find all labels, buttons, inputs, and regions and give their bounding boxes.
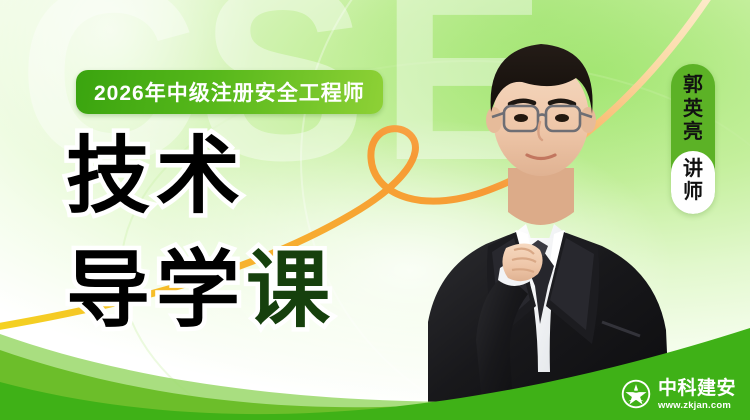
zkjan-star-logo-icon <box>621 379 651 409</box>
instructor-badge: 郭 英 亮 讲 师 <box>671 64 715 214</box>
brand-name: 中科建安 <box>658 379 736 398</box>
instructor-name: 郭 英 亮 <box>683 74 703 151</box>
instructor-role: 讲 师 <box>671 151 715 214</box>
instructor-name-char-3: 亮 <box>683 121 703 145</box>
page-title-line-1: 技术 <box>66 134 246 218</box>
course-title-pill: 2026年中级注册安全工程师 <box>76 70 383 114</box>
brand-logo: 中科建安 www.zkjan.com <box>621 379 736 411</box>
brand-text: 中科建安 www.zkjan.com <box>658 379 736 411</box>
brand-url: www.zkjan.com <box>658 401 736 411</box>
instructor-name-char-2: 英 <box>683 98 703 122</box>
instructor-role-char-2: 师 <box>683 181 703 205</box>
instructor-role-char-1: 讲 <box>683 158 703 182</box>
course-title-label: 2026年中级注册安全工程师 <box>94 77 365 107</box>
course-banner: C S E 2026年中级注册安全工程师 技术 导学课 <box>0 0 750 420</box>
instructor-name-char-1: 郭 <box>683 74 703 98</box>
